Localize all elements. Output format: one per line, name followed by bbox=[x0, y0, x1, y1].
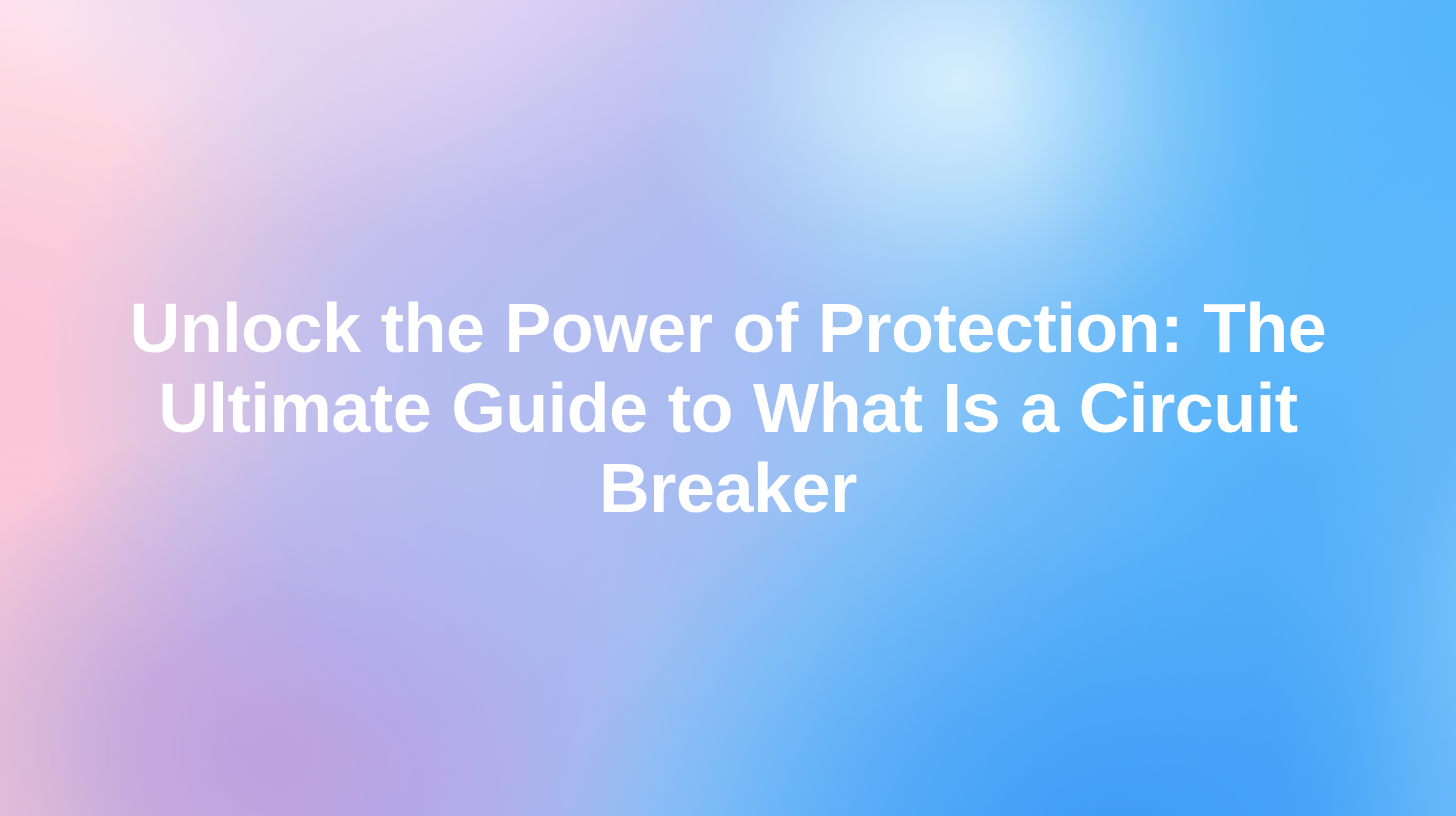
hero-content: Unlock the Power of Protection: The Ulti… bbox=[0, 0, 1456, 816]
page-title: Unlock the Power of Protection: The Ulti… bbox=[108, 288, 1348, 528]
hero-banner: Unlock the Power of Protection: The Ulti… bbox=[0, 0, 1456, 816]
